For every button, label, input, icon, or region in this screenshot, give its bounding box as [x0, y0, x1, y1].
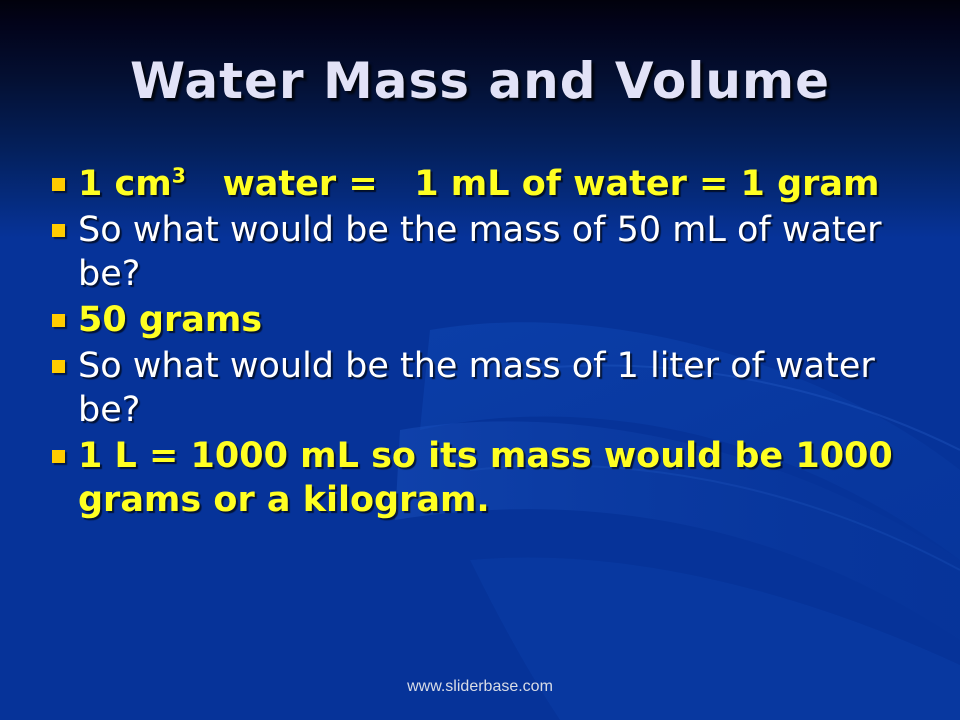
bullet-text-5: 1 L = 1000 mL so its mass would be 1000 …	[78, 434, 932, 522]
bullet-item-3: 50 grams	[52, 298, 932, 342]
slide-title: Water Mass and Volume	[0, 52, 960, 110]
bullet-1-part-a: 1 cm	[78, 164, 172, 204]
bullet-item-4: So what would be the mass of 1 liter of …	[52, 344, 932, 432]
bullet-item-2: So what would be the mass of 50 mL of wa…	[52, 208, 932, 296]
bullet-text-3: 50 grams	[78, 298, 932, 342]
bullet-text-4: So what would be the mass of 1 liter of …	[78, 344, 932, 432]
bullet-list: 1 cm3 water = 1 mL of water = 1 gram So …	[52, 162, 932, 524]
slide-footer-url: www.sliderbase.com	[0, 678, 960, 696]
presentation-slide: Water Mass and Volume 1 cm3 water = 1 mL…	[0, 0, 960, 720]
bullet-1-superscript: 3	[172, 163, 186, 187]
bullet-item-5: 1 L = 1000 mL so its mass would be 1000 …	[52, 434, 932, 522]
square-bullet-icon	[52, 360, 65, 373]
square-bullet-icon	[52, 224, 65, 237]
square-bullet-icon	[52, 178, 65, 191]
square-bullet-icon	[52, 314, 65, 327]
bullet-text-2: So what would be the mass of 50 mL of wa…	[78, 208, 932, 296]
square-bullet-icon	[52, 450, 65, 463]
bullet-item-1: 1 cm3 water = 1 mL of water = 1 gram	[52, 162, 932, 206]
bullet-text-1: 1 cm3 water = 1 mL of water = 1 gram	[78, 162, 932, 206]
bullet-1-part-b: water = 1 mL of water = 1 gram	[186, 164, 880, 204]
